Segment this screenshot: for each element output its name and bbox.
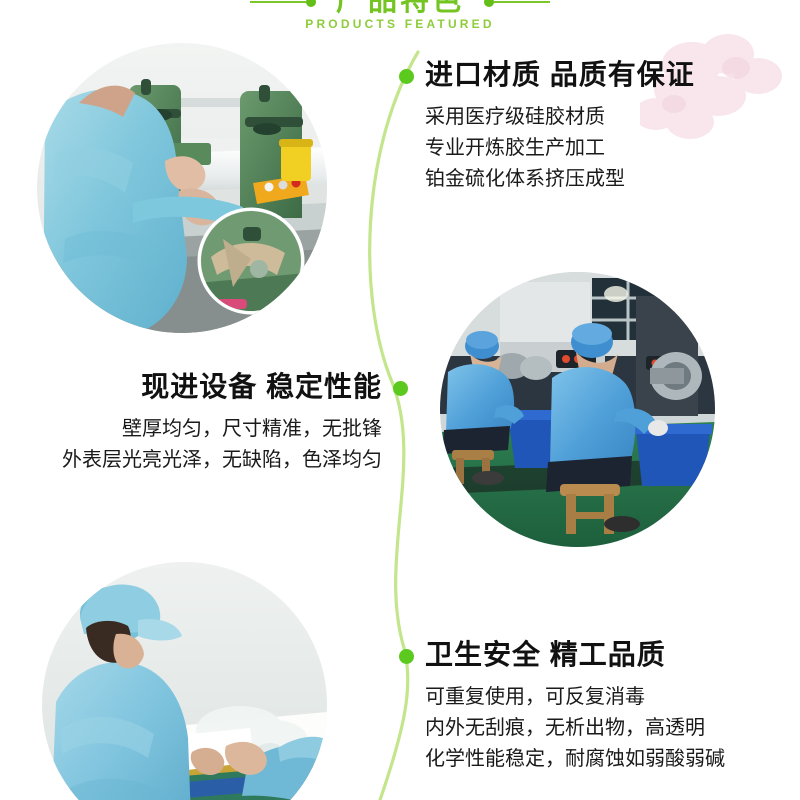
rubber-mixing-mill-photo xyxy=(37,43,327,333)
feature-line: 外表层光亮光泽，无缺陷，色泽均匀 xyxy=(62,444,382,475)
feature-bullet-icon xyxy=(399,69,414,84)
feature-line: 内外无刮痕，无析出物，高透明 xyxy=(425,712,725,743)
feature-block-material: 进口材质 品质有保证 采用医疗级硅胶材质 专业开炼胶生产加工 铂金硫化体系挤压成… xyxy=(425,58,695,194)
feature-bullet-icon xyxy=(393,381,408,396)
feature-line: 化学性能稳定，耐腐蚀如弱酸弱碱 xyxy=(425,743,725,774)
page-header: 产品特色 PRODUCTS FEATURED xyxy=(0,0,800,48)
feature-line: 专业开炼胶生产加工 xyxy=(425,132,695,163)
feature-line: 采用医疗级硅胶材质 xyxy=(425,101,695,132)
packing-station-photo xyxy=(42,562,327,800)
feature-line: 壁厚均匀，尺寸精准，无批锋 xyxy=(62,413,382,444)
page-subtitle: PRODUCTS FEATURED xyxy=(0,17,800,31)
page-title: 产品特色 xyxy=(0,0,800,18)
feature-lines: 采用医疗级硅胶材质 专业开炼胶生产加工 铂金硫化体系挤压成型 xyxy=(425,101,695,194)
product-features-page: 产品特色 PRODUCTS FEATURED xyxy=(0,0,800,800)
production-line-photo xyxy=(440,272,715,547)
feature-lines: 壁厚均匀，尺寸精准，无批锋 外表层光亮光泽，无缺陷，色泽均匀 xyxy=(62,413,382,475)
feature-heading: 进口材质 品质有保证 xyxy=(425,58,695,92)
feature-line: 铂金硫化体系挤压成型 xyxy=(425,163,695,194)
feature-lines: 可重复使用，可反复消毒 内外无刮痕，无析出物，高透明 化学性能稳定，耐腐蚀如弱酸… xyxy=(425,681,725,774)
feature-bullet-icon xyxy=(399,649,414,664)
feature-heading: 卫生安全 精工品质 xyxy=(425,638,725,672)
feature-line: 可重复使用，可反复消毒 xyxy=(425,681,725,712)
feature-block-quality: 卫生安全 精工品质 可重复使用，可反复消毒 内外无刮痕，无析出物，高透明 化学性… xyxy=(425,638,725,774)
feature-block-equipment: 现进设备 稳定性能 壁厚均匀，尺寸精准，无批锋 外表层光亮光泽，无缺陷，色泽均匀 xyxy=(62,370,382,475)
feature-heading: 现进设备 稳定性能 xyxy=(62,370,382,404)
